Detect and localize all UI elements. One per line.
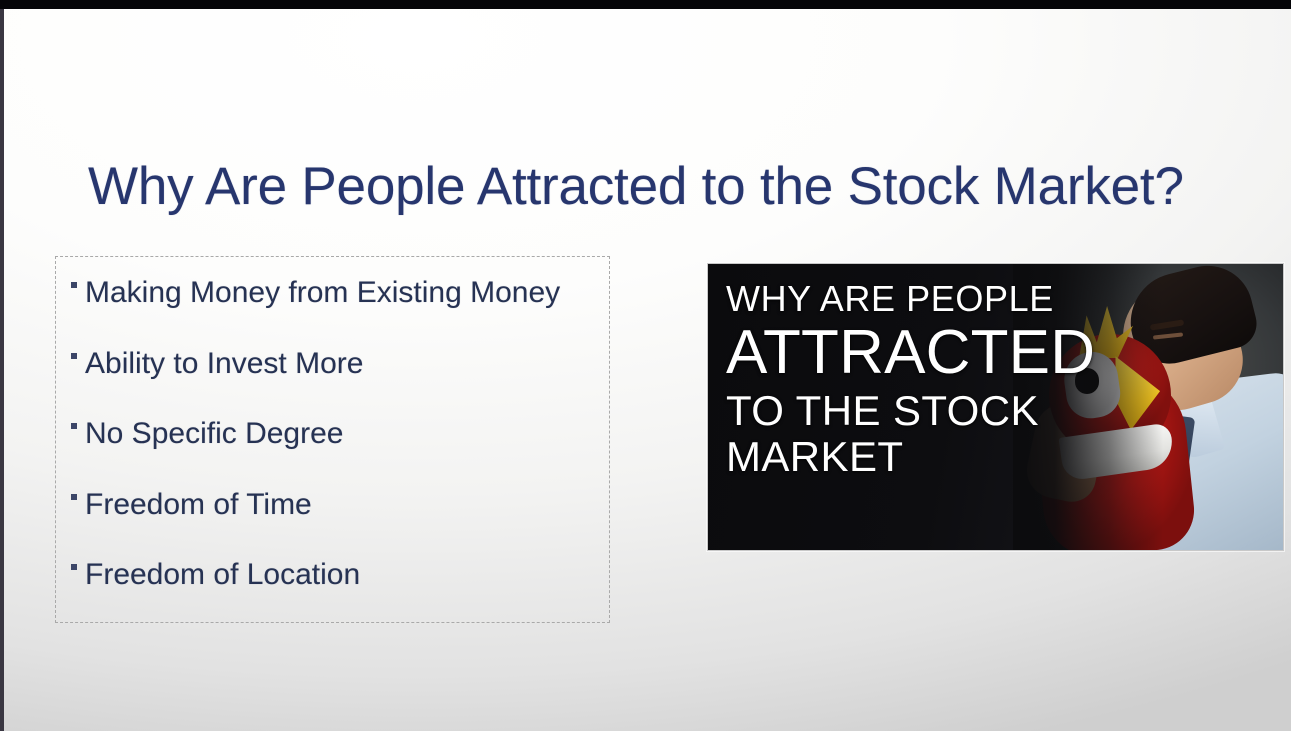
list-item: Freedom of Location [70, 553, 640, 597]
image-caption-line-2: ATTRACTED [726, 320, 1146, 386]
list-item-label: Freedom of Time [85, 488, 312, 521]
square-bullet-icon [71, 494, 77, 500]
image-caption-line-3: TO THE STOCK [726, 388, 1146, 434]
list-item-label: No Specific Degree [85, 417, 343, 450]
list-item-label: Freedom of Location [85, 558, 360, 591]
presentation-slide: Why Are People Attracted to the Stock Ma… [4, 9, 1291, 731]
image-caption-text: WHY ARE PEOPLE ATTRACTED TO THE STOCK MA… [726, 280, 1146, 480]
video-player-frame: Why Are People Attracted to the Stock Ma… [0, 0, 1291, 731]
square-bullet-icon [71, 564, 77, 570]
image-caption-line-1: WHY ARE PEOPLE [726, 280, 1146, 318]
image-caption-line-4: MARKET [726, 434, 1146, 480]
list-item: Freedom of Time [70, 483, 640, 527]
list-item: Making Money from Existing Money [70, 271, 640, 315]
square-bullet-icon [71, 423, 77, 429]
top-letterbox-bar [0, 0, 1291, 9]
square-bullet-icon [71, 353, 77, 359]
bullet-list: Making Money from Existing Money Ability… [70, 271, 640, 597]
list-item: No Specific Degree [70, 412, 640, 456]
list-item-label: Ability to Invest More [85, 347, 363, 380]
slide-image: WHY ARE PEOPLE ATTRACTED TO THE STOCK MA… [707, 263, 1284, 551]
list-item: Ability to Invest More [70, 342, 640, 386]
square-bullet-icon [71, 282, 77, 288]
page-title: Why Are People Attracted to the Stock Ma… [88, 157, 1248, 216]
list-item-label: Making Money from Existing Money [85, 276, 560, 309]
